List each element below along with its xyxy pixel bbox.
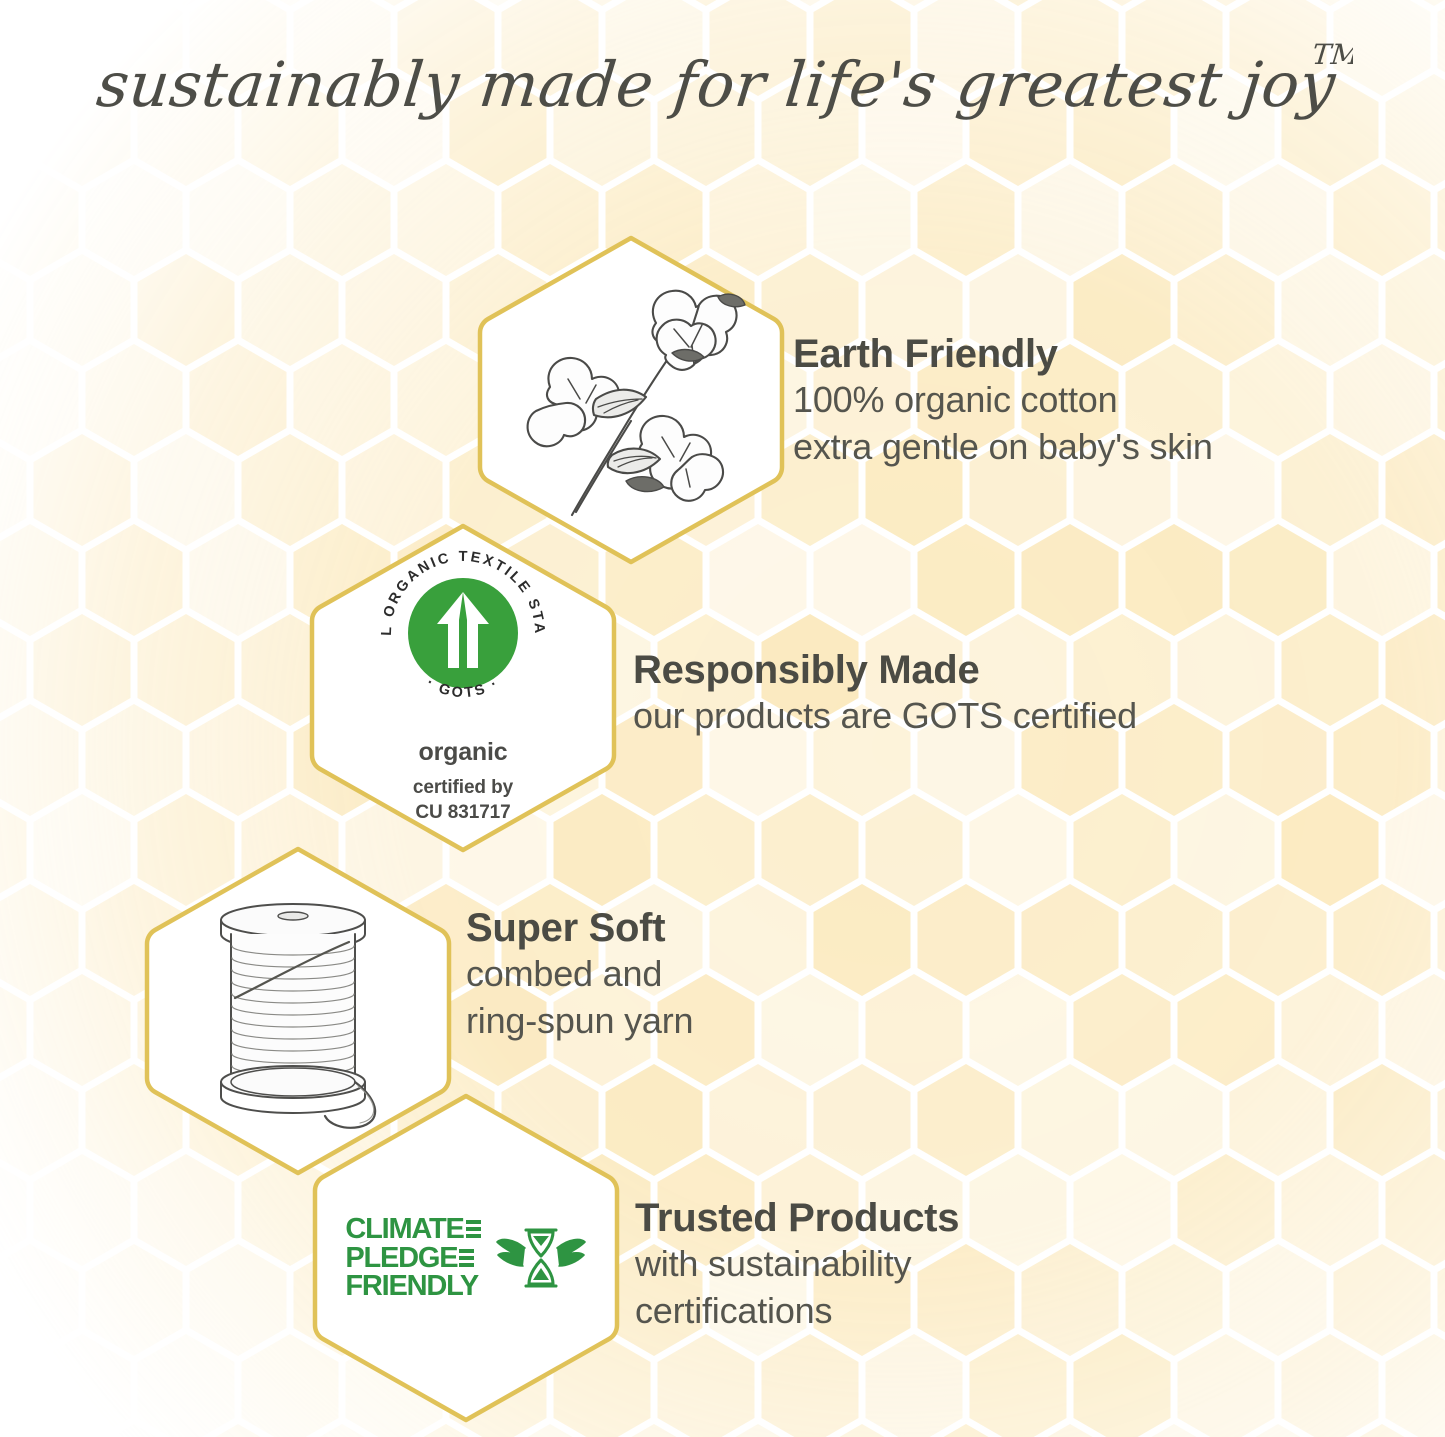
feature-line: ring-spun yarn	[466, 998, 693, 1045]
feature-text-earth-friendly: Earth Friendly 100% organic cotton extra…	[793, 332, 1213, 470]
tagline-script-text: sustainably made for life's greatest joy…	[93, 30, 1353, 146]
feature-title: Responsibly Made	[633, 648, 1137, 693]
trademark-symbol: TM	[1310, 38, 1352, 71]
feature-text-trusted-products: Trusted Products with sustainability cer…	[635, 1196, 959, 1334]
climate-pledge-friendly-icon: CLIMATE PLEDGE FRIENDLY	[345, 1215, 586, 1301]
feature-title: Earth Friendly	[793, 332, 1213, 377]
cpf-bars-icon	[459, 1249, 474, 1267]
infographic-canvas: sustainably made for life's greatest joy…	[0, 0, 1445, 1437]
gots-organic-label: organic	[419, 738, 508, 767]
feature-line: with sustainability	[635, 1241, 959, 1288]
feature-line: certifications	[635, 1288, 959, 1335]
gots-certificate-number: CU 831717	[415, 801, 510, 824]
winged-hourglass-icon	[495, 1218, 587, 1298]
cotton-branch-icon	[506, 269, 756, 531]
feature-text-super-soft: Super Soft combed and ring-spun yarn	[466, 906, 693, 1044]
feature-card-responsibly-made[interactable]: GLOBAL ORGANIC TEXTILE STANDARD · GOTS ·…	[300, 520, 626, 856]
feature-card-earth-friendly[interactable]	[468, 232, 794, 568]
cpf-word-friendly: FRIENDLY	[345, 1272, 478, 1301]
cpf-word-climate: CLIMATE	[345, 1215, 463, 1244]
feature-line: combed and	[466, 951, 693, 998]
gots-organic-seal-icon: GLOBAL ORGANIC TEXTILE STANDARD · GOTS ·	[370, 540, 556, 726]
tagline-banner: sustainably made for life's greatest joy…	[0, 28, 1445, 148]
feature-line: 100% organic cotton	[793, 377, 1213, 424]
cpf-bars-icon	[466, 1220, 481, 1238]
cpf-word-pledge: PLEDGE	[345, 1244, 457, 1273]
feature-line: our products are GOTS certified	[633, 693, 1137, 740]
feature-line: extra gentle on baby's skin	[793, 424, 1213, 471]
tagline-text: sustainably made for life's greatest joy	[93, 48, 1339, 121]
gots-certified-by-label: certified by	[413, 776, 513, 799]
feature-title: Trusted Products	[635, 1196, 959, 1241]
climate-pledge-wordmark: CLIMATE PLEDGE FRIENDLY	[345, 1215, 480, 1301]
gots-certification-block: GLOBAL ORGANIC TEXTILE STANDARD · GOTS ·…	[370, 540, 556, 824]
feature-card-trusted-products[interactable]: CLIMATE PLEDGE FRIENDLY	[303, 1090, 629, 1426]
feature-text-responsibly-made: Responsibly Made our products are GOTS c…	[633, 648, 1137, 740]
feature-title: Super Soft	[466, 906, 693, 951]
